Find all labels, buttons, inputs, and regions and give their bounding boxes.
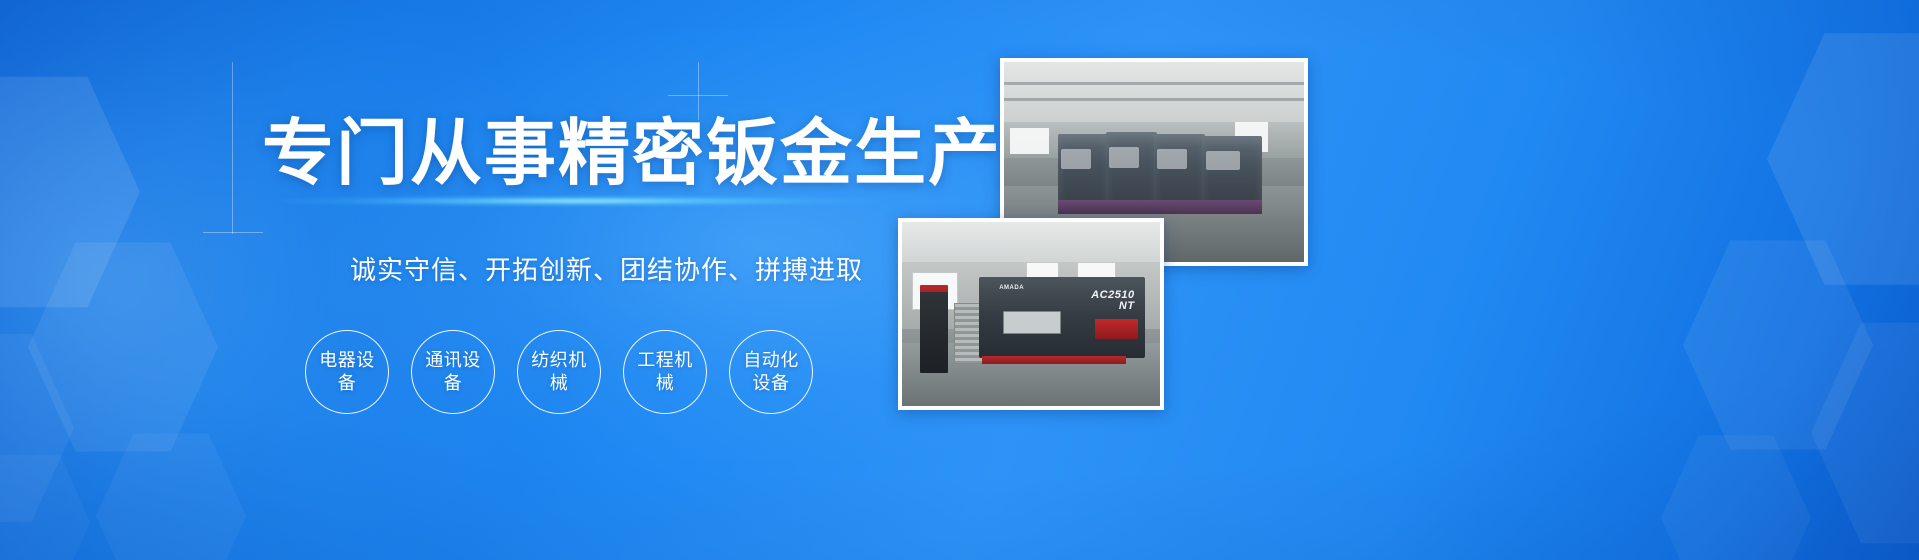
- category-label: 纺织机械: [526, 349, 592, 395]
- category-label: 自动化设备: [738, 349, 804, 395]
- category-label: 通讯设备: [420, 349, 486, 395]
- machine-unit: [1106, 132, 1157, 202]
- banner-subtitle: 诚实守信、开拓创新、团结协作、拼搏进取: [350, 250, 910, 287]
- model-suffix: NT: [1119, 300, 1135, 312]
- photo-amada-turret-punch: AMADA AC2510 NT: [898, 218, 1164, 410]
- machine-model-text: AC2510 NT: [1091, 290, 1134, 312]
- machine-unit: [1058, 134, 1109, 202]
- category-label: 电器设备: [314, 349, 380, 395]
- headline-block: 专门从事精密钣金生产加工: [262, 112, 882, 196]
- ceiling-beam: [1004, 82, 1304, 85]
- control-cabinet: [920, 292, 948, 373]
- category-circle-automation[interactable]: 自动化设备: [729, 330, 813, 414]
- banner-headline: 专门从事精密钣金生产加工: [262, 112, 882, 196]
- category-circle-textile[interactable]: 纺织机械: [517, 330, 601, 414]
- machine-base: [1058, 200, 1262, 214]
- photo-scene: AMADA AC2510 NT: [902, 222, 1160, 406]
- machine-unit: [1202, 136, 1262, 202]
- punch-machine-body: AMADA AC2510 NT: [979, 277, 1144, 358]
- operator-panel: [1003, 311, 1061, 334]
- category-circle-list: 电器设备 通讯设备 纺织机械 工程机械 自动化设备: [305, 330, 813, 414]
- category-label: 工程机械: [632, 349, 698, 395]
- red-housing: [1095, 319, 1138, 338]
- amada-brand-text: AMADA: [999, 285, 1024, 291]
- machine-unit: [1154, 134, 1205, 202]
- category-circle-communication[interactable]: 通讯设备: [411, 330, 495, 414]
- window: [1010, 128, 1049, 154]
- promo-banner: 专门从事精密钣金生产加工 诚实守信、开拓创新、团结协作、拼搏进取 电器设备 通讯…: [0, 0, 1919, 560]
- machine-rail: [982, 356, 1126, 363]
- headline-glow-underline: [280, 196, 880, 206]
- ceiling-beam: [1004, 98, 1304, 101]
- category-circle-engineering[interactable]: 工程机械: [623, 330, 707, 414]
- category-circle-electrical[interactable]: 电器设备: [305, 330, 389, 414]
